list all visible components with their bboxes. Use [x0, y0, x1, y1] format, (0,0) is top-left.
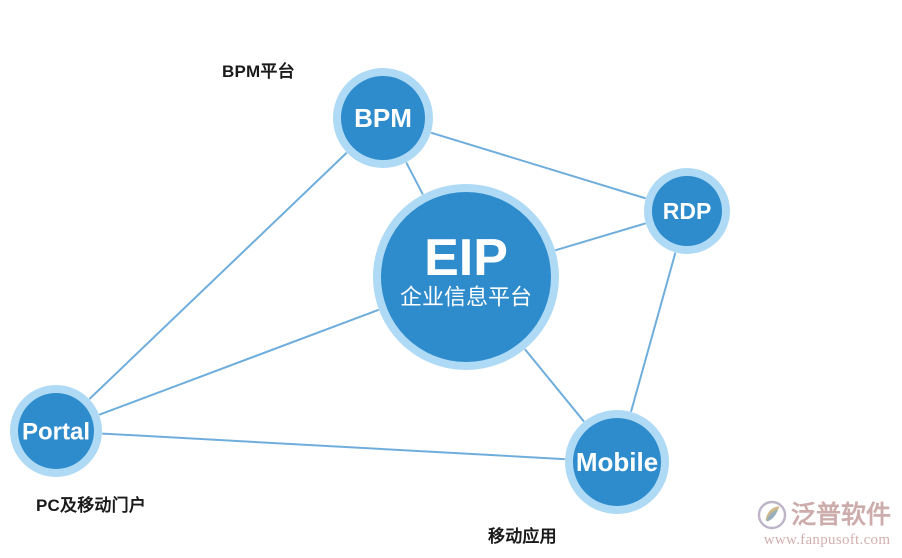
node-label-rdp: RDP [663, 198, 712, 224]
watermark-url: www.fanpusoft.com [757, 532, 897, 549]
node-eip[interactable]: EIP企业信息平台 [373, 184, 559, 370]
edge-eip-portal [100, 310, 378, 414]
caption-bpm-platform: BPM平台 [222, 57, 295, 82]
node-sublabel-eip: 企业信息平台 [400, 284, 532, 309]
node-label-bpm: BPM [354, 103, 412, 133]
node-bpm[interactable]: BPM [333, 68, 433, 168]
node-label-mobile: Mobile [576, 447, 658, 477]
edge-eip-rdp [556, 224, 645, 251]
edge-portal-mobile [103, 434, 564, 459]
edge-bpm-portal [90, 153, 346, 398]
diagram-canvas: EIP企业信息平台BPMRDPPortalMobile BPM平台 PC及移动门… [0, 0, 902, 558]
node-portal[interactable]: Portal [10, 385, 102, 477]
node-layer: EIP企业信息平台BPMRDPPortalMobile [10, 68, 730, 514]
edge-eip-mobile [525, 350, 583, 421]
edge-bpm-eip [407, 163, 423, 193]
watermark-brand: 泛普软件 [791, 503, 891, 528]
caption-mobile-application: 移动应用 [488, 522, 557, 547]
node-label-eip: EIP [424, 229, 508, 287]
node-label-portal: Portal [22, 418, 90, 445]
network-diagram: EIP企业信息平台BPMRDPPortalMobile [0, 0, 902, 558]
watermark: 泛普软件 www.fanpusoft.com [757, 500, 897, 556]
caption-pc-mobile-portal: PC及移动门户 [36, 491, 146, 516]
fanpu-logo-icon [757, 500, 787, 530]
node-mobile[interactable]: Mobile [565, 410, 669, 514]
node-rdp[interactable]: RDP [644, 168, 730, 254]
edge-rdp-mobile [631, 253, 675, 411]
watermark-row: 泛普软件 [757, 500, 897, 530]
